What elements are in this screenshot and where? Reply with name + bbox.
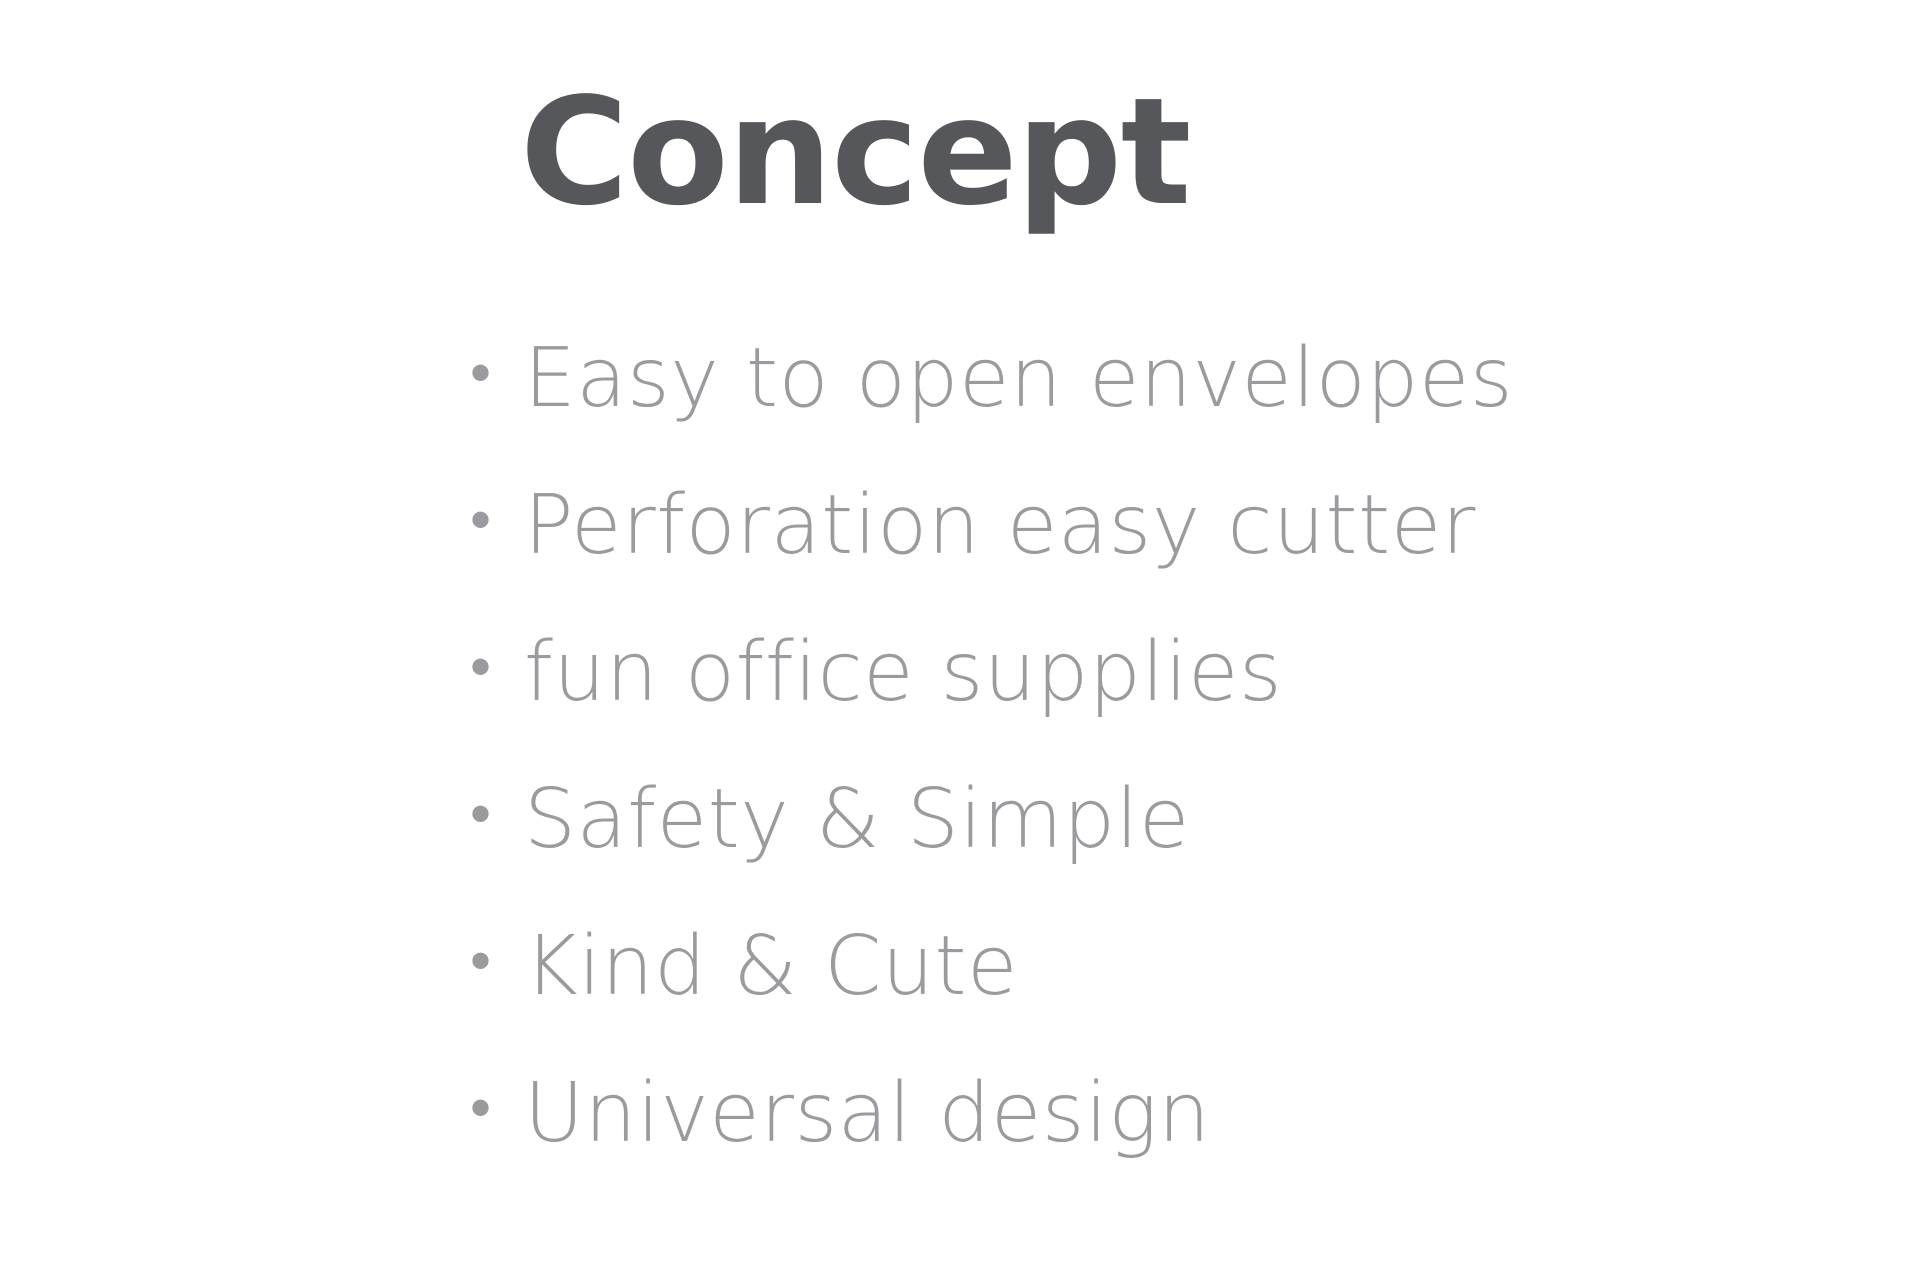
list-item: • fun office supplies — [470, 632, 1770, 779]
bullet-point-icon: • — [470, 638, 524, 697]
list-item: • Easy to open envelopes — [470, 338, 1770, 485]
bullet-point-icon: • — [470, 344, 524, 403]
bullet-point-icon: • — [470, 491, 524, 550]
concept-bullet-list: • Easy to open envelopes • Perforation e… — [470, 338, 1770, 1220]
list-item-label: Kind & Cute — [524, 926, 1018, 1008]
presentation-slide: Concept • Easy to open envelopes • Perfo… — [0, 0, 1920, 1280]
bullet-point-icon: • — [470, 785, 524, 844]
bullet-point-icon: • — [470, 932, 524, 991]
list-item-label: Perforation easy cutter — [524, 485, 1476, 567]
bullet-point-icon: • — [470, 1079, 524, 1138]
list-item-label: fun office supplies — [524, 632, 1282, 714]
list-item: • Kind & Cute — [470, 926, 1770, 1073]
list-item-label: Easy to open envelopes — [524, 338, 1513, 420]
list-item: • Perforation easy cutter — [470, 485, 1770, 632]
list-item-label: Safety & Simple — [524, 779, 1190, 861]
page-title: Concept — [520, 78, 1190, 226]
list-item: • Universal design — [470, 1073, 1770, 1220]
list-item: • Safety & Simple — [470, 779, 1770, 926]
list-item-label: Universal design — [524, 1073, 1210, 1155]
